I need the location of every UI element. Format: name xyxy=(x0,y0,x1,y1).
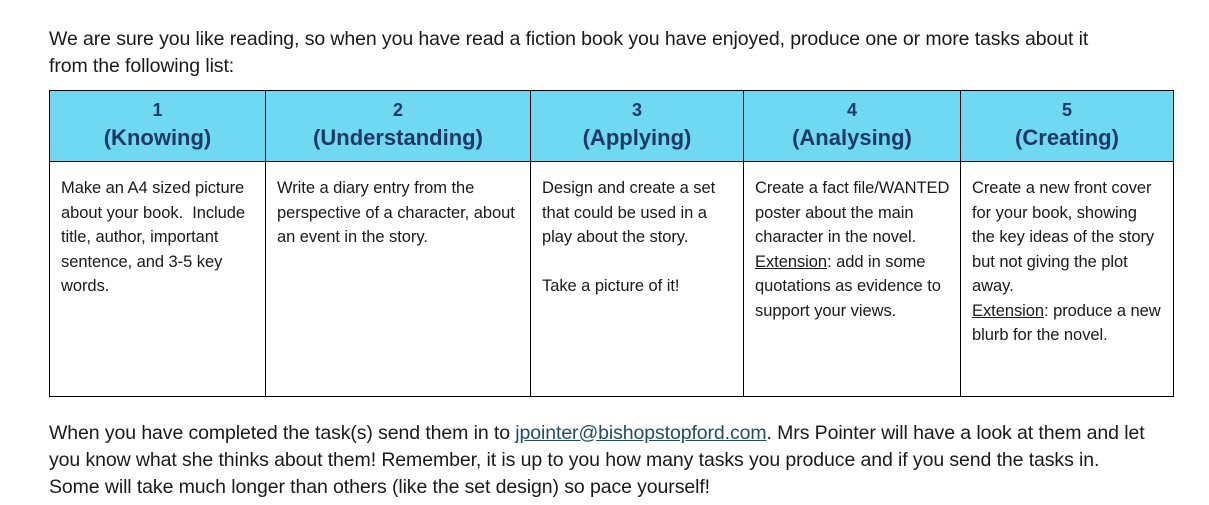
extension-label: Extension xyxy=(972,302,1044,320)
column-header-2: 2 (Understanding) xyxy=(266,91,531,162)
tasks-table: 1 (Knowing) 2 (Understanding) 3 (Applyin… xyxy=(49,90,1174,397)
task-cell-text: Make an A4 sized picture about your book… xyxy=(61,176,255,299)
outro-paragraph: When you have completed the task(s) send… xyxy=(49,420,1154,501)
column-header-3: 3 (Applying) xyxy=(531,91,744,162)
table-header-row: 1 (Knowing) 2 (Understanding) 3 (Applyin… xyxy=(50,91,1174,162)
tasks-table-body: Make an A4 sized picture about your book… xyxy=(50,162,1174,397)
extension-label: Extension xyxy=(755,253,827,271)
outro-before-link: When you have completed the task(s) send… xyxy=(49,422,515,444)
task-body: Create a fact file/WANTED poster about t… xyxy=(755,179,954,246)
task-body: Create a new front cover for your book, … xyxy=(972,179,1159,295)
document-page: We are sure you like reading, so when yo… xyxy=(0,0,1209,505)
table-row: Make an A4 sized picture about your book… xyxy=(50,162,1174,397)
column-header-4: 4 (Analysing) xyxy=(744,91,961,162)
column-header-number: 2 xyxy=(268,98,528,123)
intro-paragraph: We are sure you like reading, so when yo… xyxy=(49,26,1124,80)
column-header-number: 5 xyxy=(963,98,1171,123)
task-cell-3: Design and create a set that could be us… xyxy=(531,162,744,397)
column-header-5: 5 (Creating) xyxy=(961,91,1174,162)
task-body: Make an A4 sized picture about your book… xyxy=(61,179,250,295)
column-header-name: (Knowing) xyxy=(52,123,263,153)
task-body: Design and create a set that could be us… xyxy=(542,179,720,295)
task-cell-text: Write a diary entry from the perspective… xyxy=(277,176,520,250)
task-cell-2: Write a diary entry from the perspective… xyxy=(266,162,531,397)
column-header-number: 1 xyxy=(52,98,263,123)
task-cell-5: Create a new front cover for your book, … xyxy=(961,162,1174,397)
task-cell-4: Create a fact file/WANTED poster about t… xyxy=(744,162,961,397)
task-cell-text: Create a new front cover for your book, … xyxy=(972,176,1163,348)
column-header-number: 3 xyxy=(533,98,741,123)
column-header-1: 1 (Knowing) xyxy=(50,91,266,162)
email-link[interactable]: jpointer@bishopstopford.com xyxy=(515,422,766,444)
column-header-name: (Creating) xyxy=(963,123,1171,153)
task-cell-text: Create a fact file/WANTED poster about t… xyxy=(755,176,950,323)
column-header-name: (Applying) xyxy=(533,123,741,153)
task-cell-text: Design and create a set that could be us… xyxy=(542,176,733,299)
column-header-number: 4 xyxy=(746,98,958,123)
tasks-table-header: 1 (Knowing) 2 (Understanding) 3 (Applyin… xyxy=(50,91,1174,162)
task-cell-1: Make an A4 sized picture about your book… xyxy=(50,162,266,397)
column-header-name: (Understanding) xyxy=(268,123,528,153)
column-header-name: (Analysing) xyxy=(746,123,958,153)
task-body: Write a diary entry from the perspective… xyxy=(277,179,519,246)
